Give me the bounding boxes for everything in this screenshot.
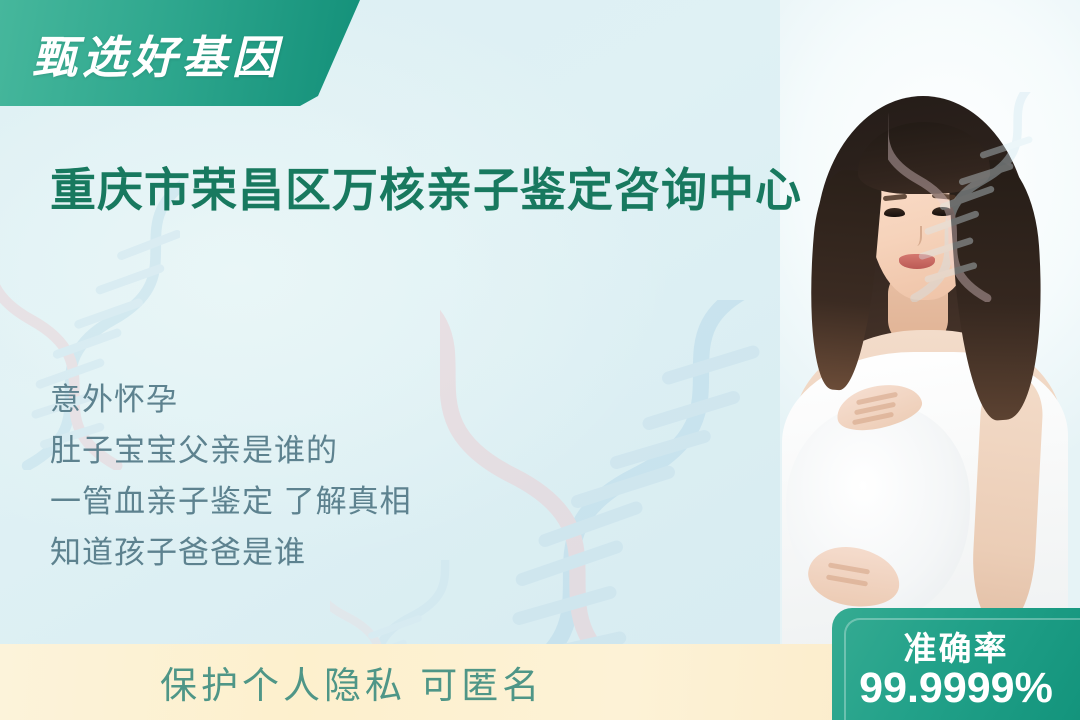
pregnant-woman-photo — [780, 0, 1080, 700]
body-line: 一管血亲子鉴定 了解真相 — [50, 476, 570, 527]
body-copy: 意外怀孕 肚子宝宝父亲是谁的 一管血亲子鉴定 了解真相 知道孩子爸爸是谁 — [50, 374, 570, 578]
body-line: 知道孩子爸爸是谁 — [50, 527, 570, 578]
eye-left — [884, 208, 905, 217]
accuracy-badge-label: 准确率 — [832, 622, 1080, 670]
nose — [911, 226, 922, 246]
body-line: 意外怀孕 — [50, 374, 570, 425]
accuracy-badge: 准确率 99.9999% — [832, 608, 1080, 720]
logo-text: 甄选好基因 — [32, 21, 282, 86]
privacy-banner-text: 保护个人隐私 可匿名 — [160, 655, 543, 709]
accuracy-badge-value: 99.9999% — [832, 664, 1080, 713]
page-title: 重庆市荣昌区万核亲子鉴定咨询中心 — [50, 162, 860, 219]
eye-right — [932, 207, 953, 216]
logo-banner: 甄选好基因 — [0, 0, 360, 106]
poster-root: 甄选好基因 重庆市荣昌区万核亲子鉴定咨询中心 意外怀孕 肚子宝宝父亲是谁的 一管… — [0, 0, 1080, 720]
body-line: 肚子宝宝父亲是谁的 — [50, 425, 570, 476]
